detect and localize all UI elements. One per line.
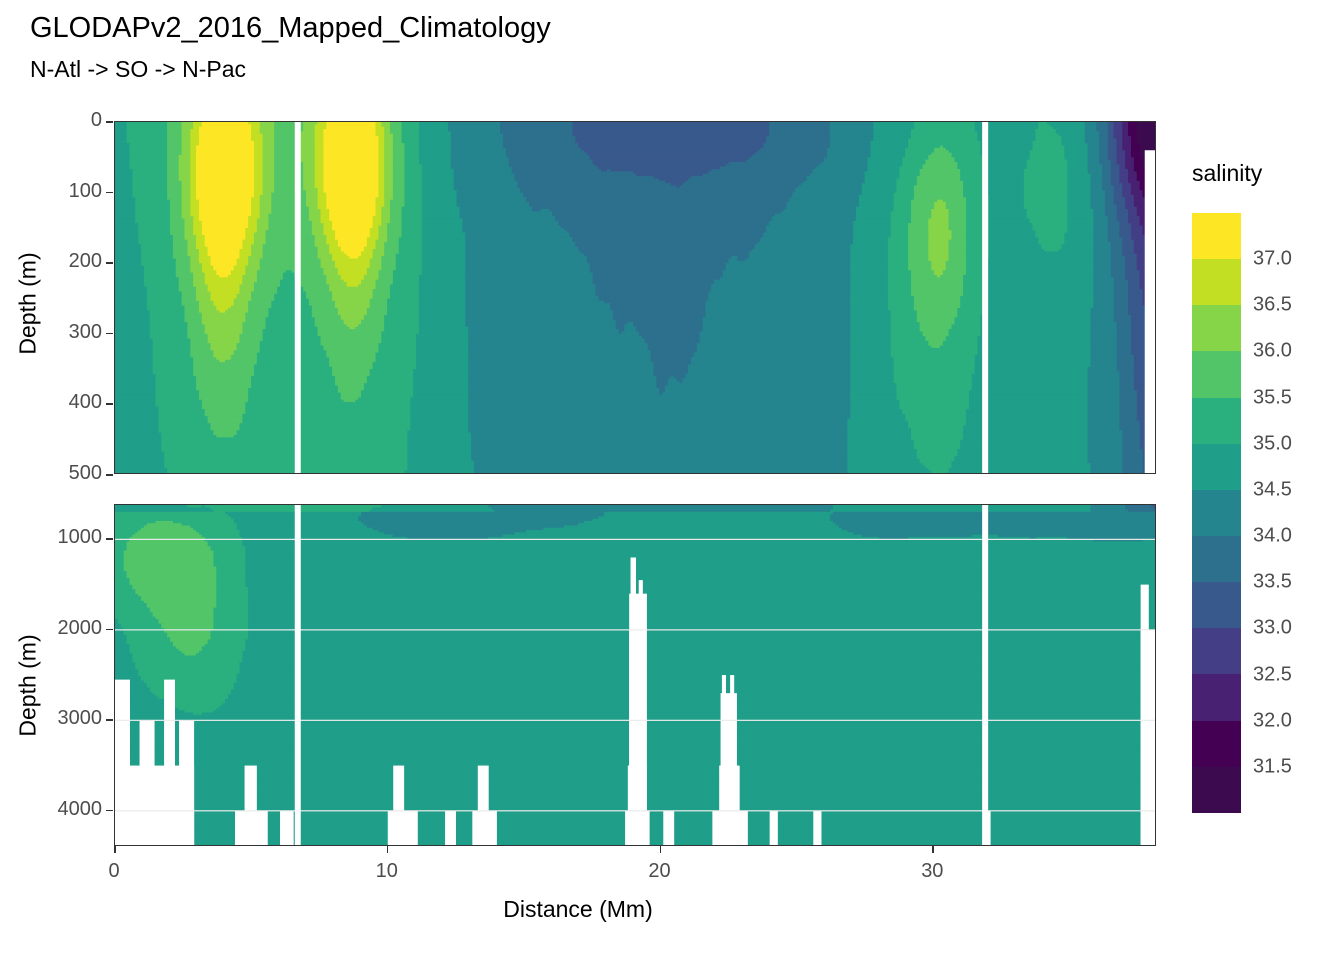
y-tick-label-1000: 1000 bbox=[32, 526, 102, 549]
legend-tick-36.0: 36.0 bbox=[1253, 340, 1292, 363]
tick-mark bbox=[106, 121, 113, 123]
gridline bbox=[115, 539, 1156, 540]
legend-band-5 bbox=[1192, 444, 1241, 490]
tick-mark bbox=[106, 474, 113, 476]
panel-lower-depth bbox=[114, 504, 1156, 846]
tick-mark bbox=[106, 262, 113, 264]
legend-colorbar[interactable] bbox=[1192, 213, 1241, 813]
x-tick-label-30: 30 bbox=[897, 860, 967, 883]
tick-mark bbox=[106, 403, 113, 405]
tick-mark bbox=[106, 810, 113, 812]
figure-root: GLODAPv2_2016_Mapped_Climatology N-Atl -… bbox=[0, 0, 1344, 960]
salinity-contour-lower bbox=[115, 505, 1156, 846]
legend-tick-33.5: 33.5 bbox=[1253, 571, 1292, 594]
y-tick-label-500: 500 bbox=[32, 462, 102, 485]
section-break bbox=[982, 122, 988, 474]
figure-title: GLODAPv2_2016_Mapped_Climatology bbox=[30, 12, 551, 45]
legend-tick-35.0: 35.0 bbox=[1253, 432, 1292, 455]
y-tick-label-0: 0 bbox=[32, 109, 102, 132]
gridline bbox=[115, 720, 1156, 721]
legend-band-12 bbox=[1192, 767, 1241, 813]
tick-mark bbox=[106, 719, 113, 721]
legend-title: salinity bbox=[1192, 160, 1262, 187]
legend-band-6 bbox=[1192, 490, 1241, 536]
y-tick-label-100: 100 bbox=[32, 180, 102, 203]
legend-tick-37.0: 37.0 bbox=[1253, 248, 1292, 271]
tick-mark bbox=[106, 538, 113, 540]
x-axis-label: Distance (Mm) bbox=[0, 896, 1156, 923]
section-break bbox=[295, 122, 301, 474]
legend-tick-32.5: 32.5 bbox=[1253, 663, 1292, 686]
legend-band-1 bbox=[1192, 259, 1241, 305]
legend-tick-34.0: 34.0 bbox=[1253, 525, 1292, 548]
gridline bbox=[115, 629, 1156, 630]
x-tick-label-0: 0 bbox=[79, 860, 149, 883]
legend-band-7 bbox=[1192, 536, 1241, 582]
salinity-contour-upper bbox=[115, 122, 1156, 474]
legend-tick-33.0: 33.0 bbox=[1253, 617, 1292, 640]
legend-band-4 bbox=[1192, 398, 1241, 444]
y-tick-label-300: 300 bbox=[32, 321, 102, 344]
legend-band-0 bbox=[1192, 213, 1241, 259]
panel-upper-depth bbox=[114, 121, 1156, 474]
legend-band-2 bbox=[1192, 305, 1241, 351]
upper-right-notch bbox=[1145, 150, 1156, 474]
section-break bbox=[295, 505, 301, 846]
legend-tick-32.0: 32.0 bbox=[1253, 709, 1292, 732]
legend-band-11 bbox=[1192, 721, 1241, 767]
y-tick-label-200: 200 bbox=[32, 250, 102, 273]
tick-mark bbox=[660, 846, 662, 853]
legend-tick-34.5: 34.5 bbox=[1253, 478, 1292, 501]
legend-tick-35.5: 35.5 bbox=[1253, 386, 1292, 409]
y-tick-label-3000: 3000 bbox=[32, 707, 102, 730]
tick-mark bbox=[114, 846, 116, 853]
tick-mark bbox=[932, 846, 934, 853]
tick-mark bbox=[106, 629, 113, 631]
y-tick-label-4000: 4000 bbox=[32, 798, 102, 821]
legend-tick-36.5: 36.5 bbox=[1253, 294, 1292, 317]
y-tick-label-2000: 2000 bbox=[32, 617, 102, 640]
figure-subtitle: N-Atl -> SO -> N-Pac bbox=[30, 56, 246, 83]
y-tick-label-400: 400 bbox=[32, 391, 102, 414]
gridline bbox=[115, 810, 1156, 811]
tick-mark bbox=[387, 846, 389, 853]
legend-band-9 bbox=[1192, 628, 1241, 674]
tick-mark bbox=[106, 192, 113, 194]
legend-band-3 bbox=[1192, 351, 1241, 397]
legend-tick-31.5: 31.5 bbox=[1253, 755, 1292, 778]
section-break bbox=[982, 505, 988, 846]
legend-band-8 bbox=[1192, 582, 1241, 628]
x-tick-label-20: 20 bbox=[625, 860, 695, 883]
tick-mark bbox=[106, 333, 113, 335]
legend-band-10 bbox=[1192, 674, 1241, 720]
x-tick-label-10: 10 bbox=[352, 860, 422, 883]
